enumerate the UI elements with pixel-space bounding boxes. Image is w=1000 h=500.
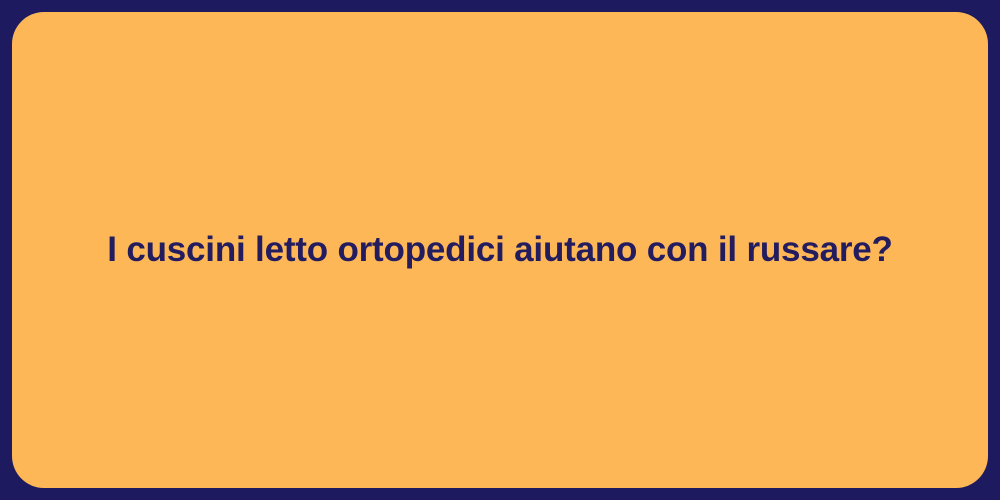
- headline-text: I cuscini letto ortopedici aiutano con i…: [107, 228, 892, 272]
- orange-content-card: I cuscini letto ortopedici aiutano con i…: [12, 12, 988, 488]
- navy-border-frame: I cuscini letto ortopedici aiutano con i…: [0, 0, 1000, 500]
